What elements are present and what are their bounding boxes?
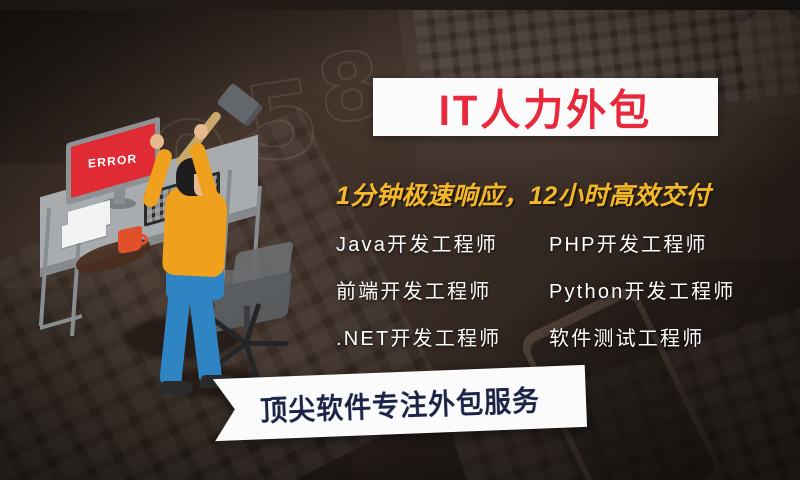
job-role-item: 软件测试工程师 [549,322,792,351]
sledgehammer-head [216,82,264,127]
headline-panel: IT人力外包 [373,78,718,136]
job-role-item: .NET开发工程师 [336,322,541,351]
subheadline-text: 1分钟极速响应，12小时高效交付 [336,176,786,208]
job-role-list: Java开发工程师 PHP开发工程师 前端开发工程师 Python开发工程师 .… [336,228,792,351]
person-leg [159,289,191,387]
promo-banner: 0 5 8 ERROR [0,0,800,480]
job-role-item: Java开发工程师 [336,228,541,257]
monitor-error-text: ERROR [88,151,138,170]
person-shoe [158,381,195,394]
frustrated-developer-illustration: ERROR [18,48,308,388]
person-leg [188,289,222,385]
job-role-item: PHP开发工程师 [549,228,792,257]
headline-text: IT人力外包 [439,76,653,137]
person-shirt [162,186,229,277]
tagline-text: 顶尖软件专注外包服务 [259,377,540,429]
top-edge-strip [0,0,800,10]
person-hand [150,134,164,149]
job-role-item: 前端开发工程师 [336,275,541,304]
person-hand [194,124,208,139]
desk-crossbar [40,314,82,330]
job-role-item: Python开发工程师 [549,275,792,304]
person-figure [138,100,258,390]
